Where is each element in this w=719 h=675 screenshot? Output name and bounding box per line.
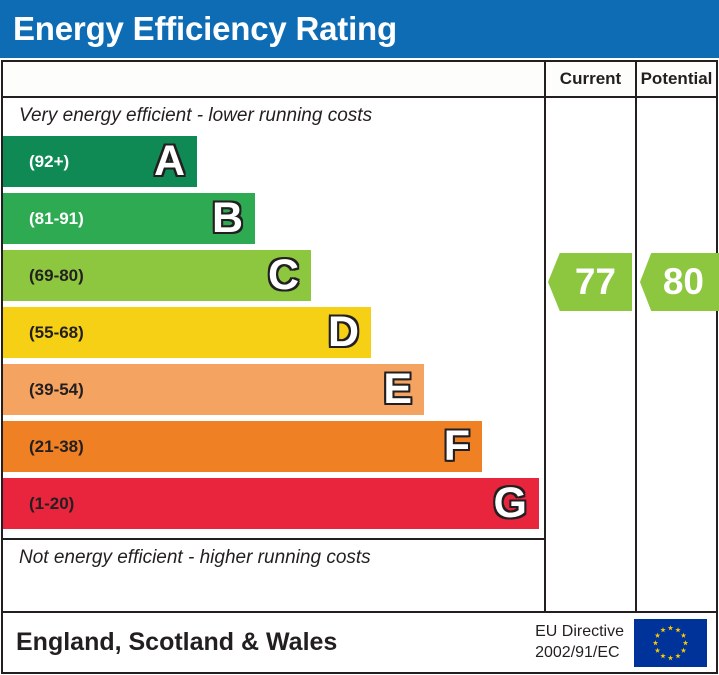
rating-table: Current Potential Very energy efficient … <box>1 60 718 613</box>
band-row-d: (55-68) D <box>3 307 371 358</box>
band-letter-g: G <box>494 482 527 525</box>
caption-inefficient: Not energy efficient - higher running co… <box>3 538 544 576</box>
band-range-f: (21-38) <box>3 437 84 457</box>
band-row-e: (39-54) E <box>3 364 424 415</box>
band-range-a: (92+) <box>3 152 69 172</box>
band-row-a: (92+) A <box>3 136 197 187</box>
column-divider-1 <box>544 62 546 611</box>
band-row-f: (21-38) F <box>3 421 482 472</box>
page-title: Energy Efficiency Rating <box>0 10 397 48</box>
column-divider-2 <box>635 62 637 611</box>
band-letter-c: C <box>268 254 299 297</box>
directive-line-1: EU Directive <box>535 622 624 642</box>
band-range-b: (81-91) <box>3 209 84 229</box>
rating-bands: (92+) A (81-91) B (69-80) C (55-68) D (3… <box>3 136 544 538</box>
caption-efficient: Very energy efficient - lower running co… <box>3 98 544 134</box>
band-range-e: (39-54) <box>3 380 84 400</box>
footer-directive: EU Directive 2002/91/EC <box>535 622 634 663</box>
eu-flag-icon <box>634 619 707 667</box>
band-letter-b: B <box>212 197 243 240</box>
band-range-d: (55-68) <box>3 323 84 343</box>
band-letter-e: E <box>383 368 412 411</box>
column-header-potential: Potential <box>637 62 716 96</box>
current-rating-value: 77 <box>575 261 616 303</box>
band-row-g: (1-20) G <box>3 478 539 529</box>
footer-bar: England, Scotland & Wales EU Directive 2… <box>1 613 718 674</box>
current-rating-indicator: 77 <box>548 253 632 311</box>
potential-rating-value: 80 <box>663 261 704 303</box>
band-letter-f: F <box>444 425 470 468</box>
potential-rating-indicator: 80 <box>640 253 719 311</box>
band-range-g: (1-20) <box>3 494 74 514</box>
footer-region-label: England, Scotland & Wales <box>3 628 535 657</box>
band-row-b: (81-91) B <box>3 193 255 244</box>
title-bar: Energy Efficiency Rating <box>0 0 719 58</box>
band-letter-d: D <box>328 311 359 354</box>
energy-efficiency-certificate: Energy Efficiency Rating Current Potenti… <box>0 0 719 675</box>
column-header-current: Current <box>546 62 635 96</box>
band-letter-a: A <box>154 140 185 183</box>
directive-line-2: 2002/91/EC <box>535 643 624 663</box>
table-header-row: Current Potential <box>3 62 716 98</box>
band-range-c: (69-80) <box>3 266 84 286</box>
band-row-c: (69-80) C <box>3 250 311 301</box>
